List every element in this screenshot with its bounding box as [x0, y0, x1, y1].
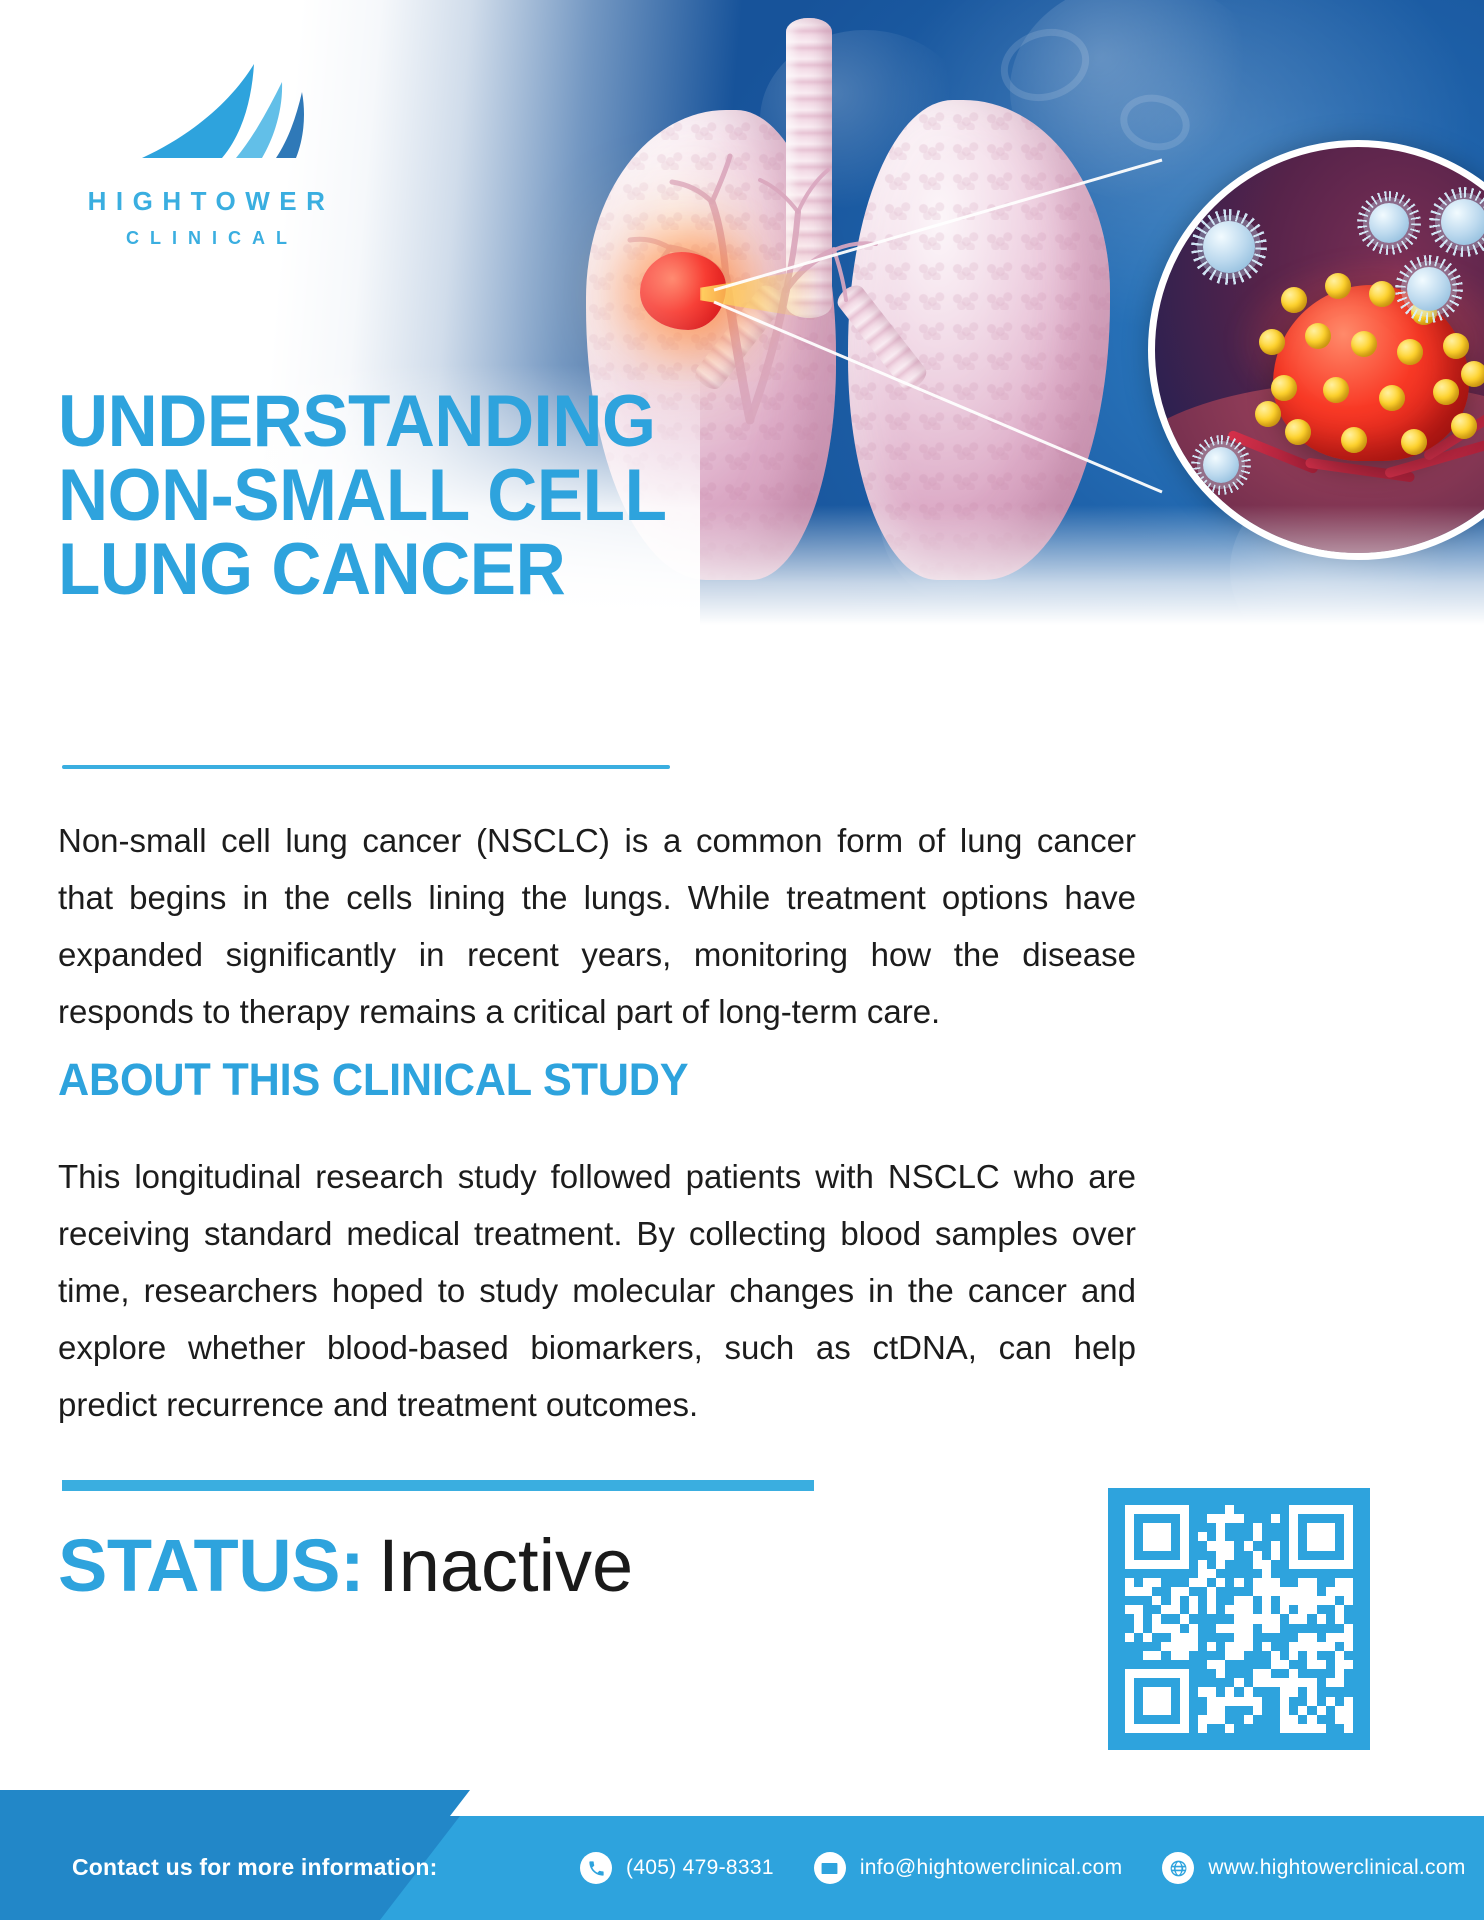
page-title-line-1: UNDERSTANDING: [58, 385, 780, 459]
divider-thin: [62, 765, 670, 769]
virus-particle: [1407, 267, 1451, 311]
virus-particle: [1203, 221, 1255, 273]
receptor: [1323, 377, 1349, 403]
contact-email-text: info@hightowerclinical.com: [860, 1856, 1123, 1880]
divider-thick: [62, 1480, 814, 1491]
email-icon: [814, 1852, 846, 1884]
virus-particle: [1203, 447, 1239, 483]
qr-code[interactable]: [1108, 1488, 1370, 1750]
receptor: [1255, 401, 1281, 427]
virus-particle: [1369, 203, 1409, 243]
section-heading-about-study: ABOUT THIS CLINICAL STUDY: [58, 1054, 688, 1106]
footer-angle-accent: [0, 1790, 470, 1816]
brand-name: HIGHTOWER: [64, 186, 358, 217]
swoosh-sail-mark-icon: [136, 62, 326, 172]
receptor: [1397, 339, 1423, 365]
page-title-line-3: LUNG CANCER: [58, 533, 780, 607]
contact-item-website[interactable]: www.hightowerclinical.com: [1162, 1852, 1465, 1884]
receptor: [1341, 427, 1367, 453]
globe-icon: [1162, 1852, 1194, 1884]
receptor: [1433, 379, 1459, 405]
study-paragraph: This longitudinal research study followe…: [58, 1148, 1136, 1433]
receptor: [1451, 413, 1477, 439]
brand-subtitle: CLINICAL: [66, 228, 358, 249]
receptor: [1379, 385, 1405, 411]
contact-item-email[interactable]: info@hightowerclinical.com: [814, 1852, 1123, 1884]
qr-code-modules: [1125, 1505, 1353, 1733]
brand-logo[interactable]: HIGHTOWER CLINICAL: [58, 62, 358, 249]
footer-bar: Contact us for more information: (405) 4…: [0, 1816, 1484, 1920]
receptor: [1351, 331, 1377, 357]
receptor: [1271, 375, 1297, 401]
receptor: [1281, 287, 1307, 313]
receptor: [1325, 273, 1351, 299]
receptor: [1401, 429, 1427, 455]
page-title: UNDERSTANDING NON-SMALL CELL LUNG CANCER: [58, 385, 780, 607]
contact-item-phone[interactable]: (405) 479-8331: [580, 1852, 774, 1884]
intro-paragraph: Non-small cell lung cancer (NSCLC) is a …: [58, 812, 1136, 1040]
receptor: [1461, 361, 1484, 387]
status-label: STATUS:: [58, 1524, 364, 1607]
footer-contact-label: Contact us for more information:: [72, 1854, 437, 1881]
receptor: [1443, 333, 1469, 359]
footer-contact-list: (405) 479-8331 info@hightowerclinical.co…: [580, 1816, 1480, 1920]
receptor: [1259, 329, 1285, 355]
status-badge: Inactive: [378, 1524, 633, 1607]
receptor: [1285, 419, 1311, 445]
contact-website-text: www.hightowerclinical.com: [1208, 1856, 1465, 1880]
receptor: [1305, 323, 1331, 349]
contact-phone-text: (405) 479-8331: [626, 1856, 774, 1880]
page-title-line-2: NON-SMALL CELL: [58, 459, 780, 533]
phone-icon: [580, 1852, 612, 1884]
virus-particle: [1441, 199, 1484, 245]
status-row: STATUS:Inactive: [58, 1520, 633, 1612]
receptor: [1369, 281, 1395, 307]
